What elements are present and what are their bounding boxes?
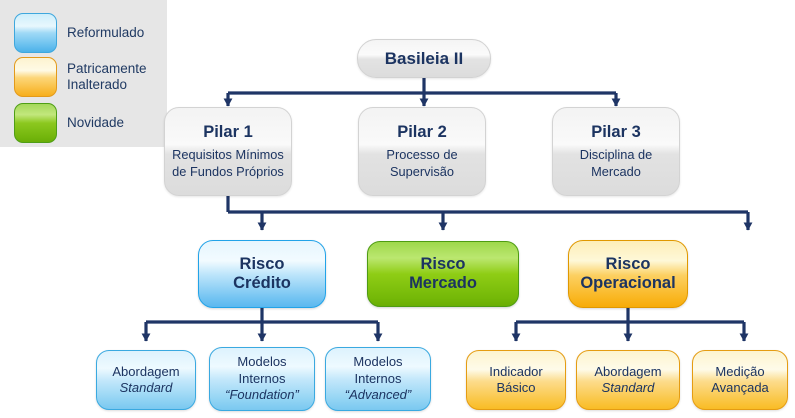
node-modelos-internos-foundation[interactable]: Modelos Internos “Foundation”	[209, 347, 315, 411]
node-risco-credito[interactable]: Risco Crédito	[198, 240, 326, 308]
node-title: Basileia II	[385, 49, 463, 69]
node-indicador-basico[interactable]: Indicador Básico	[466, 350, 566, 410]
node-line-2: Standard	[120, 380, 173, 396]
node-line-1: Indicador	[489, 364, 542, 380]
legend-label: Patricamente Inalterado	[67, 61, 147, 93]
node-title: Risco Mercado	[409, 255, 477, 293]
node-modelos-internos-advanced[interactable]: Modelos Internos “Advanced”	[325, 347, 431, 411]
node-subtitle: Processo de Supervisão	[386, 147, 457, 180]
node-abordagem-standard-credito[interactable]: Abordagem Standard	[96, 350, 196, 410]
node-pilar-1[interactable]: Pilar 1 Requisitos Mínimos de Fundos Pró…	[164, 107, 292, 196]
legend-item-novidade: Novidade	[14, 103, 124, 143]
node-line-1: Modelos	[353, 354, 402, 370]
node-line-3: “Foundation”	[225, 387, 299, 403]
legend-label: Novidade	[67, 115, 124, 131]
node-line-1: Abordagem	[594, 364, 661, 380]
legend-label: Reformulado	[67, 25, 144, 41]
node-line-2: Internos	[239, 371, 286, 387]
legend-swatch-blue	[14, 13, 57, 53]
legend-swatch-orange	[14, 57, 57, 97]
node-line-2: Internos	[355, 371, 402, 387]
node-line-1: Modelos	[237, 354, 286, 370]
node-line-2: Standard	[602, 380, 655, 396]
node-risco-operacional[interactable]: Risco Operacional	[568, 240, 688, 308]
legend-panel: Reformulado Patricamente Inalterado Novi…	[0, 0, 167, 147]
node-title: Pilar 3	[591, 123, 641, 142]
node-title: Pilar 1	[203, 123, 253, 142]
node-abordagem-standard-operacional[interactable]: Abordagem Standard	[576, 350, 680, 410]
node-pilar-3[interactable]: Pilar 3 Disciplina de Mercado	[552, 107, 680, 196]
node-line-1: Medição	[715, 364, 764, 380]
legend-swatch-green	[14, 103, 57, 143]
legend-item-reformulado: Reformulado	[14, 13, 144, 53]
node-subtitle: Disciplina de Mercado	[580, 147, 653, 180]
node-line-2: Básico	[496, 380, 535, 396]
node-subtitle: Requisitos Mínimos de Fundos Próprios	[172, 147, 284, 180]
diagram-canvas: Reformulado Patricamente Inalterado Novi…	[0, 0, 795, 418]
node-title: Risco Crédito	[233, 255, 291, 293]
node-line-2: Avançada	[711, 380, 769, 396]
node-medicao-avancada[interactable]: Medição Avançada	[692, 350, 788, 410]
node-line-3: “Advanced”	[345, 387, 411, 403]
node-risco-mercado[interactable]: Risco Mercado	[367, 241, 519, 307]
node-pilar-2[interactable]: Pilar 2 Processo de Supervisão	[358, 107, 486, 196]
node-title: Risco Operacional	[580, 255, 675, 293]
node-line-1: Abordagem	[112, 364, 179, 380]
legend-item-patricamente-inalterado: Patricamente Inalterado	[14, 57, 147, 97]
node-basileia-ii[interactable]: Basileia II	[357, 39, 491, 78]
node-title: Pilar 2	[397, 123, 447, 142]
